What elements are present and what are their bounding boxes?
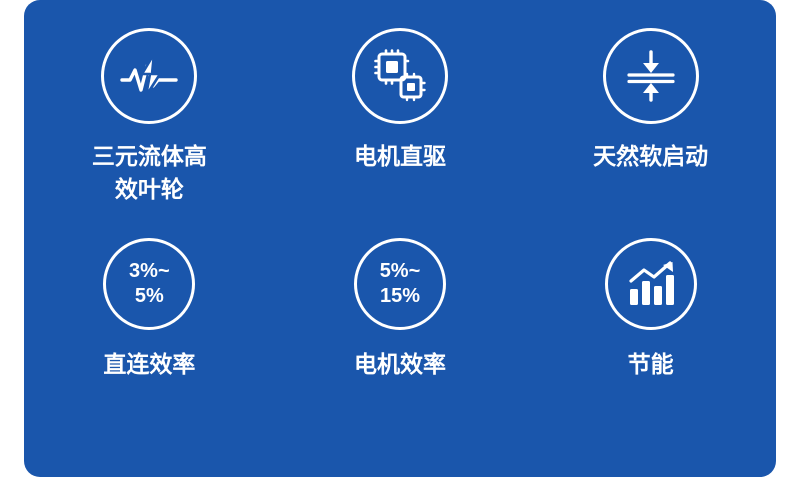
feature-label: 节能 xyxy=(628,348,674,381)
feature-card-direct-efficiency[interactable]: 3%~ 5% 直连效率 xyxy=(24,238,275,448)
feature-label: 天然软启动 xyxy=(593,140,708,173)
feature-card-impeller[interactable]: 三元流体高 效叶轮 xyxy=(24,28,275,238)
feature-icon-circle xyxy=(603,28,699,124)
chip-motor-icon xyxy=(373,49,427,103)
feature-value-circle: 5%~ 15% xyxy=(354,238,446,330)
feature-icon-circle xyxy=(101,28,197,124)
feature-icon-circle xyxy=(605,238,697,330)
pulse-wave-lightning-icon xyxy=(120,52,178,100)
feature-panel: 三元流体高 效叶轮 xyxy=(24,0,776,477)
bar-chart-growth-icon xyxy=(626,261,676,307)
feature-grid: 三元流体高 效叶轮 xyxy=(24,28,776,448)
feature-card-direct-drive[interactable]: 电机直驱 xyxy=(275,28,526,238)
feature-label: 直连效率 xyxy=(103,348,195,381)
feature-card-motor-efficiency[interactable]: 5%~ 15% 电机效率 xyxy=(275,238,526,448)
feature-label: 电机效率 xyxy=(354,348,446,381)
feature-label: 三元流体高 效叶轮 xyxy=(92,140,207,207)
feature-card-energy-saving[interactable]: 节能 xyxy=(525,238,776,448)
feature-icon-circle xyxy=(352,28,448,124)
compress-arrows-icon xyxy=(626,50,676,102)
feature-value-circle: 3%~ 5% xyxy=(103,238,195,330)
feature-value: 3%~ 5% xyxy=(129,259,170,309)
feature-label: 电机直驱 xyxy=(354,140,446,173)
feature-value: 5%~ 15% xyxy=(380,259,421,309)
feature-card-soft-start[interactable]: 天然软启动 xyxy=(525,28,776,238)
